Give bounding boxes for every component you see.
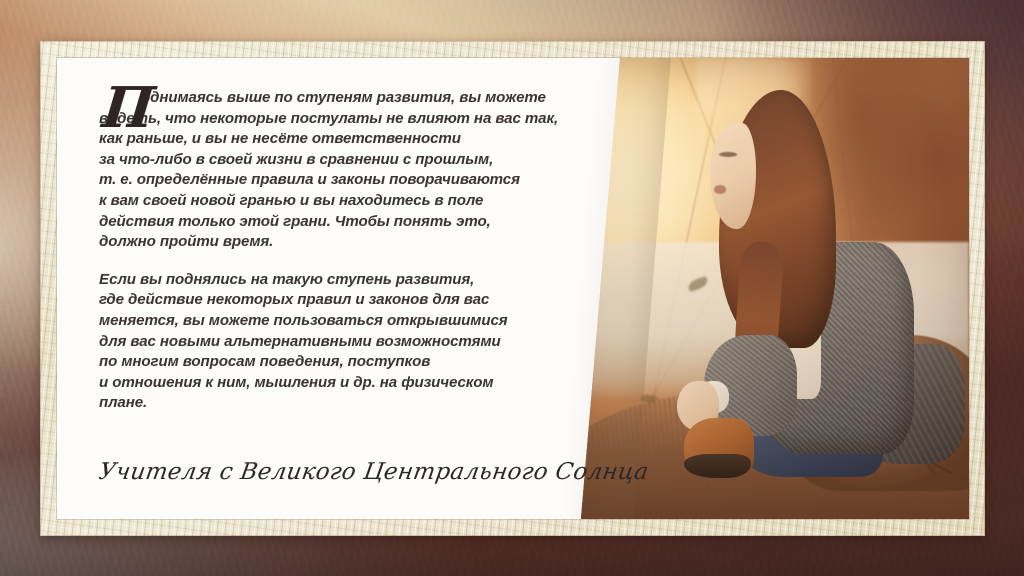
quote-text-column: П однимаясь выше по ступеням развития, в…	[57, 58, 577, 519]
card-frame: П однимаясь выше по ступеням развития, в…	[40, 41, 985, 536]
quote-attribution: Учителя с Великого Центрального Солнца	[97, 460, 650, 485]
quote-paragraph-1: однимаясь выше по ступеням развития, вы …	[99, 88, 577, 253]
card-surface: П однимаясь выше по ступеням развития, в…	[57, 58, 969, 519]
figure-face-profile	[710, 123, 757, 229]
figure-boot-sole	[684, 454, 750, 477]
figure-lips	[714, 185, 726, 194]
quote-paragraph-2: Если вы поднялись на такую ступень разви…	[99, 270, 577, 414]
photo-figure-woman	[579, 58, 969, 519]
photo-panel	[579, 58, 969, 519]
quote-card-scene: П однимаясь выше по ступеням развития, в…	[0, 0, 1024, 576]
